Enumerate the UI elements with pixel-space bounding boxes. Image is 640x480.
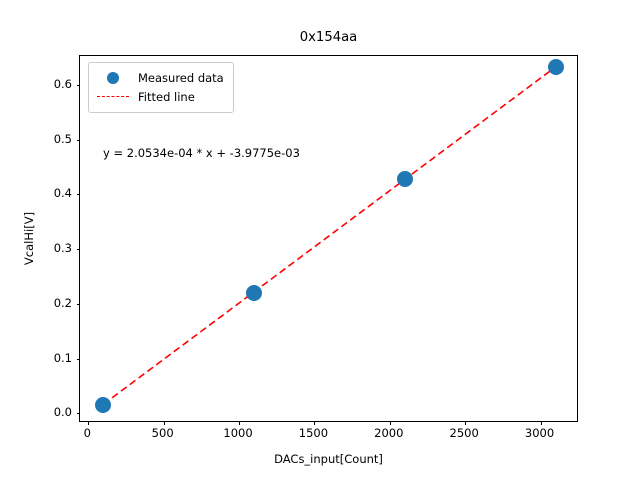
x-axis-tick-mark xyxy=(164,421,165,425)
y-axis-tick-mark xyxy=(77,249,81,250)
fit-equation-annotation: y = 2.0534e-04 * x + -3.9775e-03 xyxy=(103,146,300,160)
y-axis-tick-mark xyxy=(77,359,81,360)
x-axis-tick-mark xyxy=(390,421,391,425)
page-title: 0x154aa xyxy=(79,30,578,46)
y-axis-tick-mark xyxy=(77,140,81,141)
x-axis-tick-mark xyxy=(314,421,315,425)
x-axis-tick-mark xyxy=(239,421,240,425)
legend-item-measured-data: Measured data xyxy=(96,68,224,87)
data-point xyxy=(397,171,413,187)
x-axis-tick-mark xyxy=(88,421,89,425)
x-axis-tick-mark xyxy=(541,421,542,425)
x-axis-tick-label: 1500 xyxy=(299,426,328,440)
data-point xyxy=(95,397,111,413)
y-axis-tick-mark xyxy=(77,413,81,414)
y-axis-tick-mark xyxy=(77,304,81,305)
x-axis-tick-label: 3000 xyxy=(525,426,554,440)
legend-dashed-line-icon xyxy=(96,96,130,97)
legend-marker-circle-icon xyxy=(96,72,130,84)
x-axis-tick-mark xyxy=(465,421,466,425)
fitted-line xyxy=(103,67,555,404)
y-axis-label: VcalHi[V] xyxy=(22,55,38,422)
y-axis-tick-mark xyxy=(77,194,81,195)
x-axis-tick-label: 1000 xyxy=(223,426,252,440)
x-axis-tick-label: 500 xyxy=(152,426,174,440)
data-point xyxy=(548,59,564,75)
x-axis-tick-label: 0 xyxy=(84,426,91,440)
legend-item-fitted-line: Fitted line xyxy=(96,87,224,106)
legend-label-fitted-line: Fitted line xyxy=(130,90,195,104)
x-axis-tick-label: 2500 xyxy=(450,426,479,440)
legend-label-measured-data: Measured data xyxy=(130,71,224,85)
x-axis-tick-label: 2000 xyxy=(374,426,403,440)
y-axis-tick-mark xyxy=(77,85,81,86)
legend: Measured data Fitted line xyxy=(88,62,234,113)
data-point xyxy=(246,285,262,301)
matplotlib-figure: 0x154aa 0500100015002000250030000.00.10.… xyxy=(0,0,640,480)
x-axis-label: DACs_input[Count] xyxy=(79,452,578,466)
